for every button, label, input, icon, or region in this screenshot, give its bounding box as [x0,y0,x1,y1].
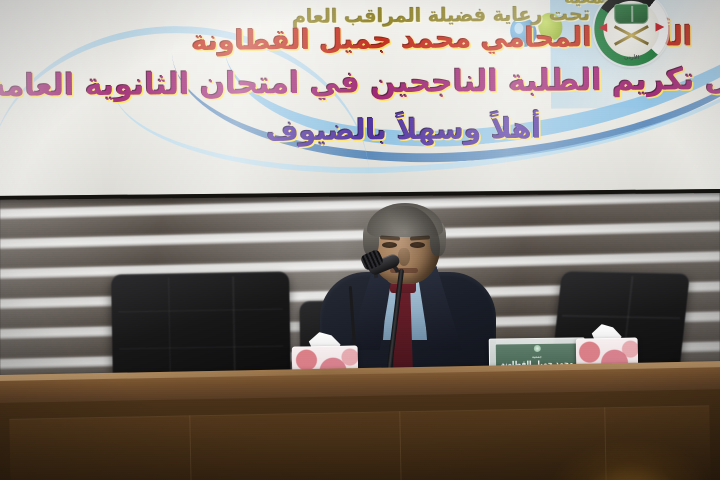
nameplate-crest-icon [533,345,540,352]
desk-warm-reflection [550,439,711,480]
crossed-swords-icon [612,22,650,50]
desk-front-panel [0,389,720,480]
banner-line-welcome: أهلاً وسهلاً بالضيوف [266,115,541,146]
emblem-bottom-text: الأردن [595,54,669,61]
nameplate-org-text: جمعية [532,354,542,359]
photo-scene: جمعية تحت رعاية فضيلة المراقب العام الأس… [0,0,720,480]
flag-chevron-right-icon [655,23,664,32]
banner-line-occasion: حفل تكريم الطلبة الناجحين في امتحان الثا… [0,64,720,102]
event-banner: جمعية تحت رعاية فضيلة المراقب العام الأس… [0,0,720,200]
organization-emblem: جمعية الأردن [594,0,669,66]
